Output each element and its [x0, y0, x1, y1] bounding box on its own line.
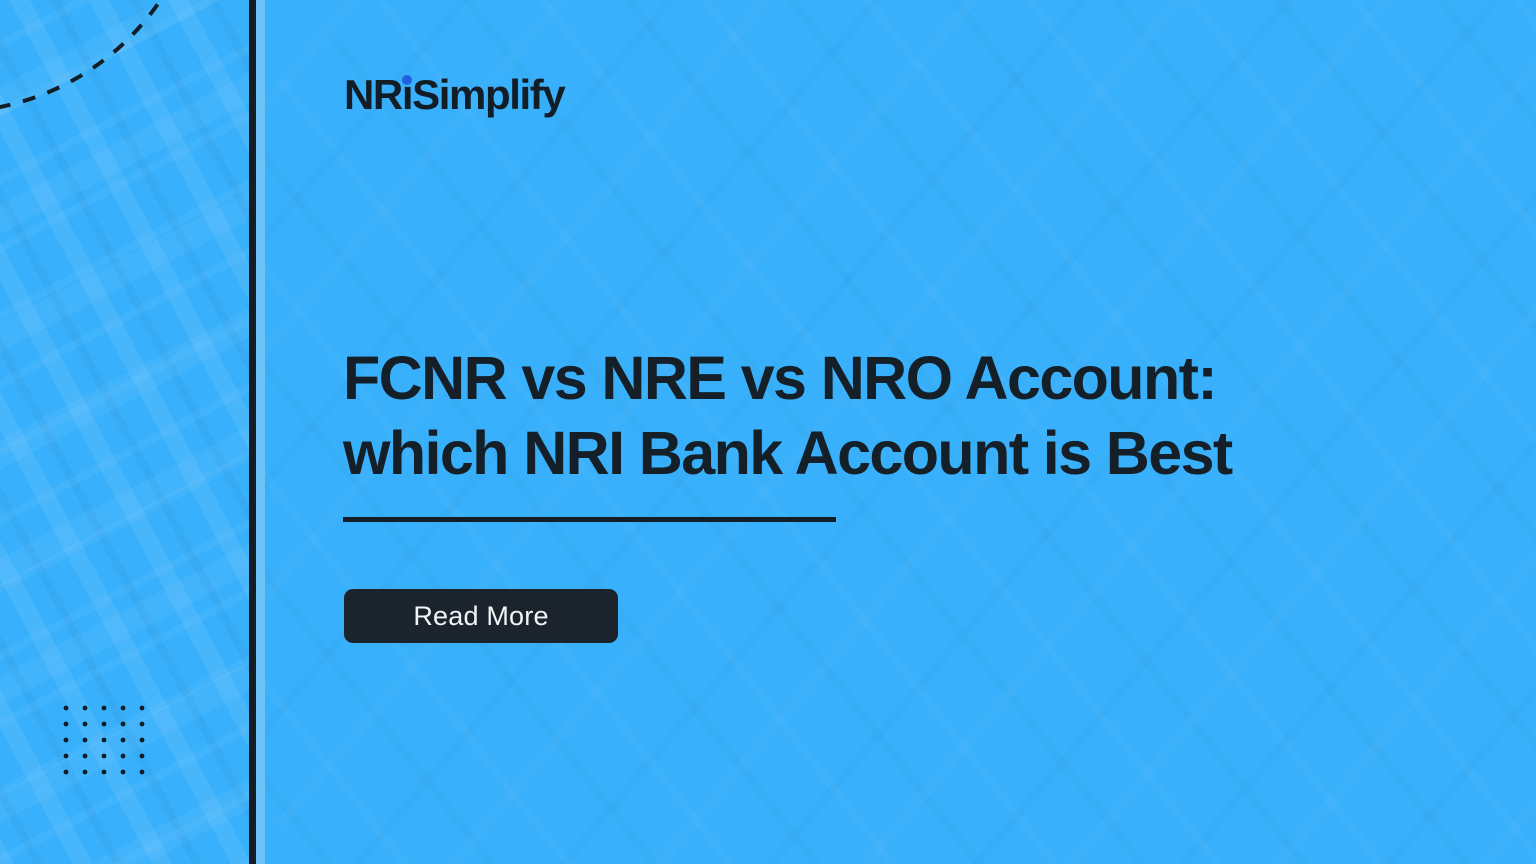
blog-banner: NRiSimplify FCNR vs NRE vs NRO Account: …	[0, 0, 1536, 864]
dashed-arc-icon	[0, 0, 212, 120]
page-title-line-2: which NRI Bank Account is Best	[343, 419, 1232, 487]
page-title-line-1: FCNR vs NRE vs NRO Account:	[343, 344, 1216, 412]
brand-logo[interactable]: NRiSimplify	[344, 74, 564, 116]
brand-logo-i: i	[402, 74, 412, 116]
left-decorative-panel	[0, 0, 250, 864]
brand-logo-part2: Simplify	[412, 71, 564, 118]
vertical-divider-accent	[256, 0, 265, 864]
vertical-divider	[249, 0, 256, 864]
read-more-button[interactable]: Read More	[344, 589, 618, 643]
title-underline-rule	[343, 517, 836, 522]
page-title: FCNR vs NRE vs NRO Account: which NRI Ba…	[343, 341, 1493, 491]
brand-logo-part1: NR	[344, 71, 402, 118]
brand-logo-dot	[402, 75, 412, 85]
dot-grid-icon	[63, 705, 147, 777]
